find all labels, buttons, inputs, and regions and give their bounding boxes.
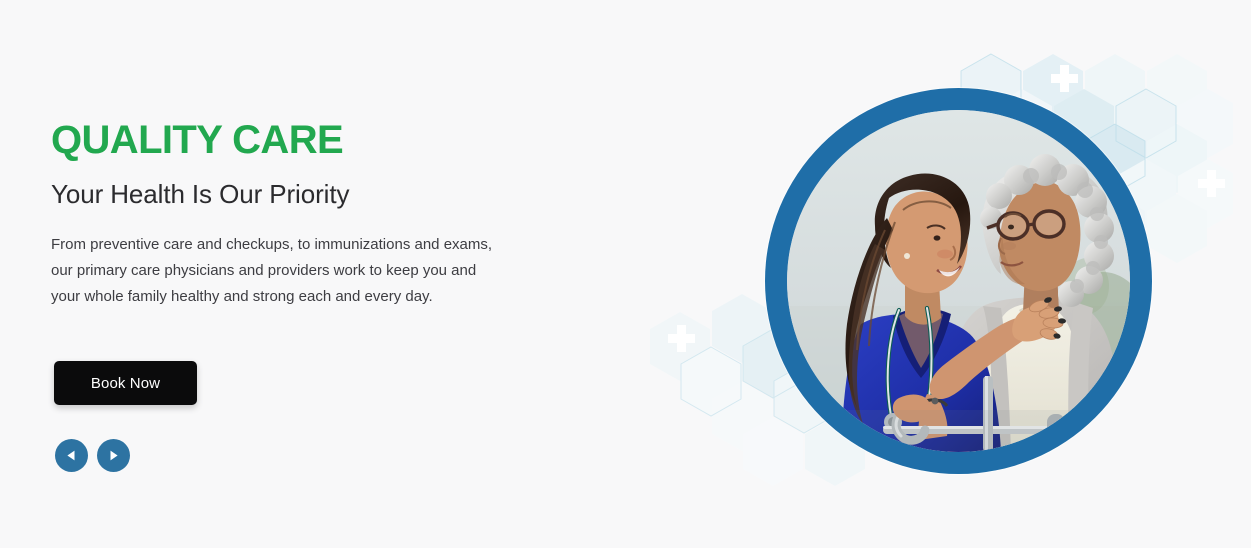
chevron-right-icon (107, 449, 120, 462)
carousel-next-button[interactable] (97, 439, 130, 472)
carousel-navigation (55, 439, 130, 472)
medical-cross-icon (668, 325, 695, 352)
hero-description-line-2: our primary care physicians and provider… (51, 258, 551, 284)
hero-portrait-ring (765, 88, 1152, 474)
hero-description: From preventive care and checkups, to im… (51, 232, 551, 309)
hero-copy: QUALITY CARE Your Health Is Our Priority… (51, 118, 611, 309)
hero-section: QUALITY CARE Your Health Is Our Priority… (0, 0, 1251, 548)
hero-description-line-3: your whole family healthy and strong eac… (51, 284, 551, 310)
hero-description-line-1: From preventive care and checkups, to im… (51, 232, 551, 258)
chevron-left-icon (65, 449, 78, 462)
book-now-button[interactable]: Book Now (54, 361, 197, 405)
hero-eyebrow: QUALITY CARE (51, 118, 611, 163)
carousel-prev-button[interactable] (55, 439, 88, 472)
hero-portrait-image (787, 110, 1130, 452)
hero-subheading: Your Health Is Our Priority (51, 179, 611, 210)
